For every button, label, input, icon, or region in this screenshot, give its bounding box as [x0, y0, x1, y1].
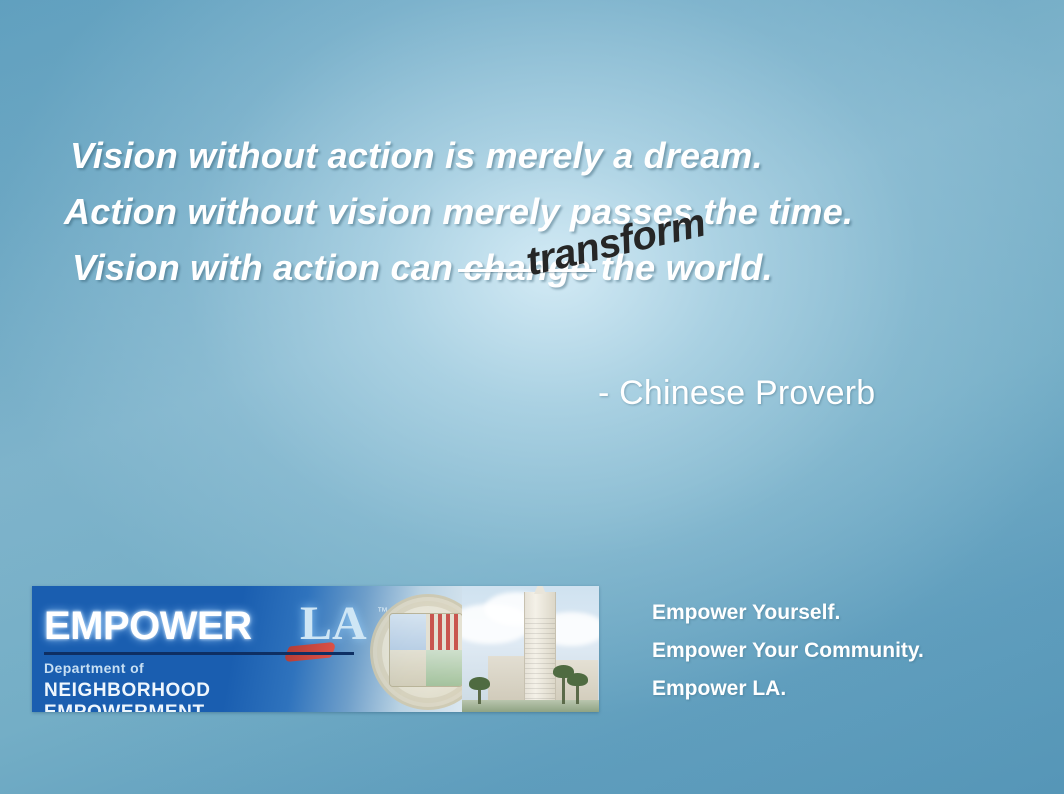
palm-tree-icon: [562, 674, 565, 704]
quote-line-1: Vision without action is merely a dream.: [70, 128, 1044, 184]
seal-quadrants: [389, 613, 463, 687]
la-city-hall-photo: [462, 586, 599, 712]
quote-line-2: Action without vision merely passes the …: [64, 184, 1044, 240]
tagline-line-3: Empower LA.: [652, 670, 924, 708]
presentation-slide: Vision without action is merely a dream.…: [0, 0, 1064, 794]
city-hall-tower: [524, 592, 556, 704]
tower-floor-lines: [525, 618, 555, 704]
tagline-line-2: Empower Your Community.: [652, 632, 924, 670]
seal-quadrant-1: [390, 614, 426, 650]
logo-department-name: NEIGHBORHOOD EMPOWERMENT: [44, 680, 362, 712]
seal-quadrant-2: [426, 614, 462, 650]
quote-line-3-prefix: Vision with action can: [72, 247, 463, 288]
seal-quadrant-4: [426, 650, 462, 686]
city-hall-left-wing: [488, 656, 528, 706]
logo-wordmark-panel: EMPOWER LA ™ Department of NEIGHBORHOOD …: [32, 586, 362, 712]
empower-la-logo: EMPOWER LA ™ Department of NEIGHBORHOOD …: [32, 586, 599, 712]
palm-tree-icon: [576, 682, 579, 704]
tagline-block: Empower Yourself. Empower Your Community…: [652, 594, 924, 708]
logo-department-label: Department of: [44, 660, 144, 676]
palm-tree-icon: [478, 686, 481, 704]
logo-divider: [44, 652, 354, 655]
logo-empower-text: EMPOWER: [44, 604, 252, 649]
tagline-line-1: Empower Yourself.: [652, 594, 924, 632]
seal-quadrant-3: [390, 650, 426, 686]
quote-attribution: - Chinese Proverb: [598, 374, 875, 413]
